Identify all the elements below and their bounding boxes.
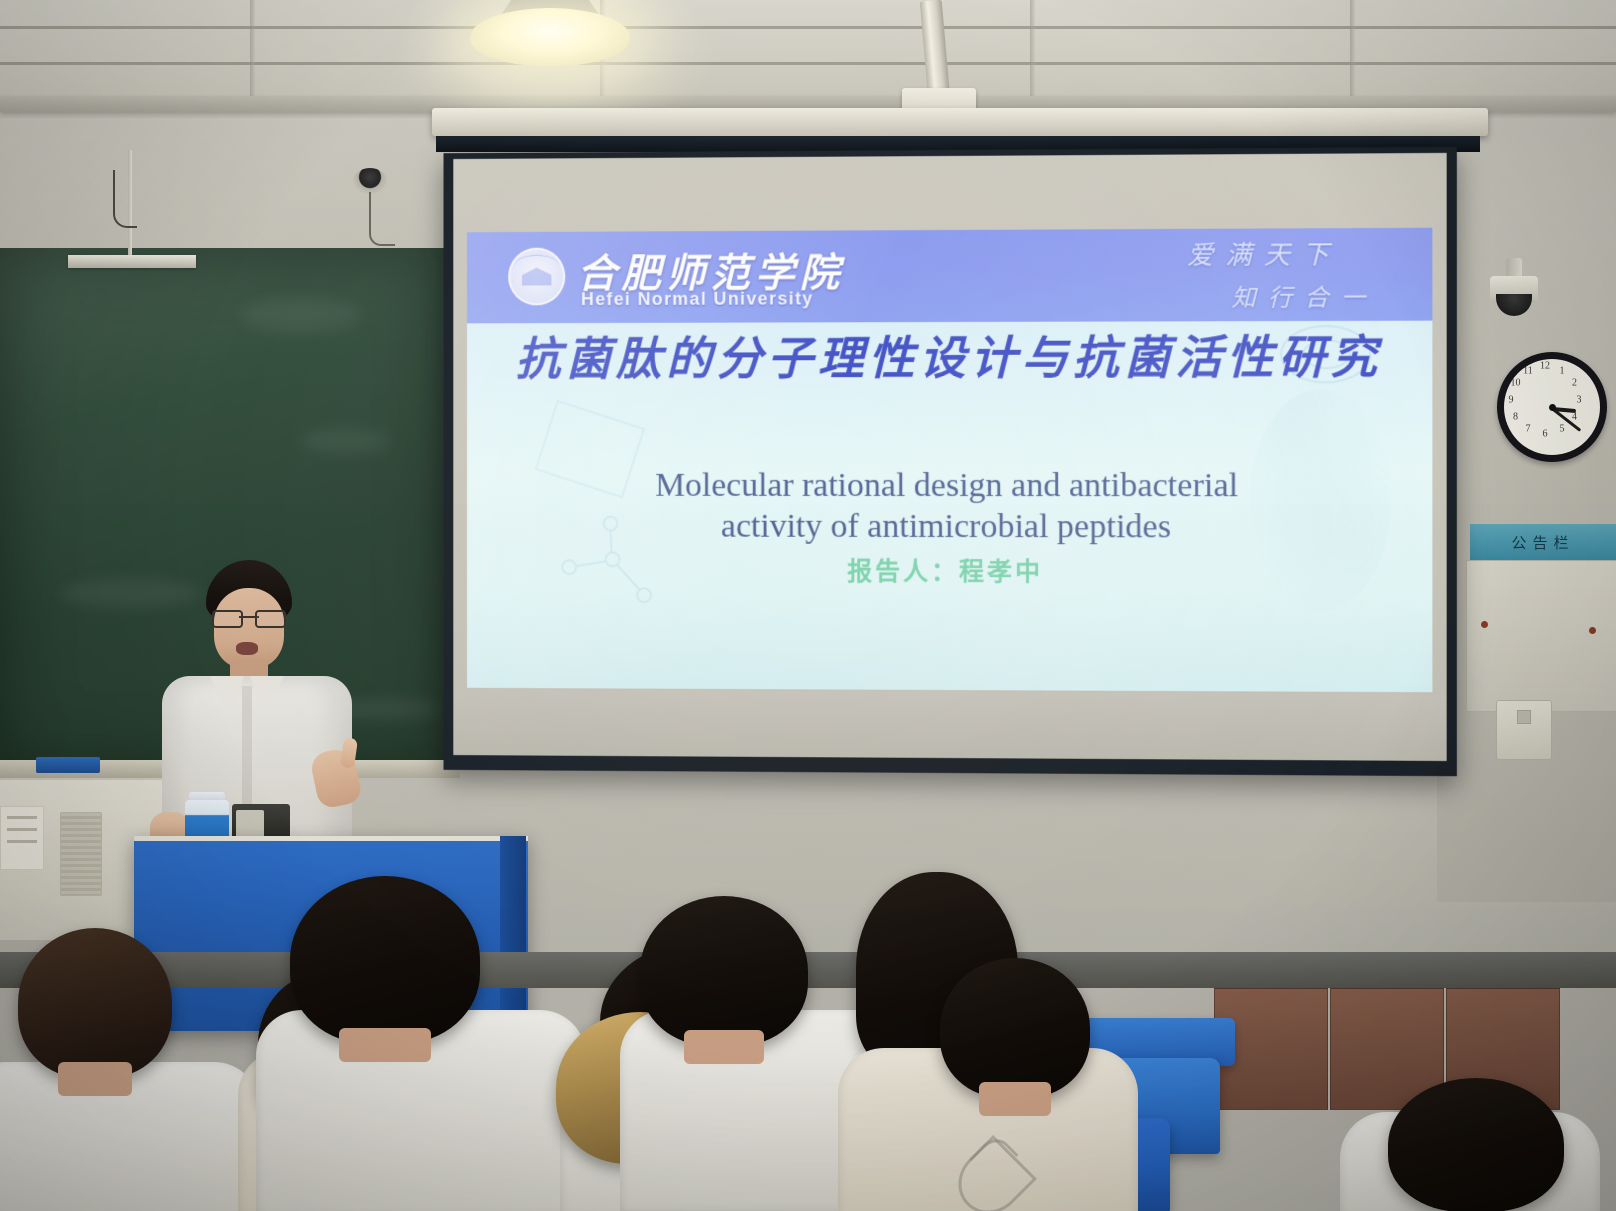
cabinet-vent-icon xyxy=(60,812,102,896)
dome-sensor-icon xyxy=(353,168,387,194)
student-head xyxy=(1388,1078,1564,1211)
motto-line-2: 知行合一 xyxy=(1231,277,1377,313)
student-head xyxy=(290,876,480,1044)
right-wall xyxy=(1437,112,1616,902)
clock-numeral: 8 xyxy=(1513,412,1518,423)
lectern-side-panel xyxy=(500,836,526,1026)
screen-valance xyxy=(432,108,1488,136)
chalk-eraser xyxy=(36,757,100,773)
clock-numeral: 5 xyxy=(1560,424,1565,435)
clock-numeral: 3 xyxy=(1577,395,1582,406)
slide-presenter-line: 报告人：程孝中 xyxy=(467,551,1432,589)
clock-numeral: 6 xyxy=(1543,429,1548,440)
presenter-face xyxy=(214,588,284,668)
posted-note xyxy=(0,806,44,870)
ceiling-dome-light-icon xyxy=(470,0,630,68)
university-name-en: Hefei Normal University xyxy=(581,288,814,310)
university-motto: 爱满天下 知行合一 xyxy=(1187,234,1377,313)
clock-numeral: 1 xyxy=(1560,365,1565,376)
fluorescent-tube-light-icon xyxy=(68,255,196,268)
sensor-wire xyxy=(369,192,395,246)
screen-blank-area xyxy=(453,690,1446,761)
clock-numeral: 9 xyxy=(1509,395,1514,406)
slide-title-cn: 抗菌肽的分子理性设计与抗菌活性研究 xyxy=(467,331,1432,387)
university-seal-icon xyxy=(508,248,565,306)
projected-slide: 合肥师范学院 Hefei Normal University 爱满天下 知行合一 xyxy=(467,228,1432,693)
slide-title-en-line-1: Molecular rational design and antibacter… xyxy=(526,466,1371,507)
student-head xyxy=(640,896,808,1046)
projection-screen: 合肥师范学院 Hefei Normal University 爱满天下 知行合一 xyxy=(444,147,1457,776)
slide-header-band: 合肥师范学院 Hefei Normal University 爱满天下 知行合一 xyxy=(467,228,1432,324)
wall-skirting xyxy=(0,952,1616,988)
slide-title-en-line-2: activity of antimicrobial peptides xyxy=(526,506,1371,548)
slide-title-en: Molecular rational design and antibacter… xyxy=(467,466,1432,548)
lecture-hall-photo: 121234567891011 公告栏 xyxy=(0,0,1616,1211)
student-head xyxy=(18,928,172,1078)
hoodie-heart-print-icon xyxy=(945,1135,1037,1211)
clock-numeral: 12 xyxy=(1540,361,1550,372)
wall-clock: 121234567891011 xyxy=(1497,352,1607,462)
screen-surface: 合肥师范学院 Hefei Normal University 爱满天下 知行合一 xyxy=(453,153,1446,761)
clock-numeral: 10 xyxy=(1511,378,1521,389)
presenter-mouth xyxy=(236,642,258,655)
clock-numeral: 11 xyxy=(1523,365,1533,376)
clock-numeral: 2 xyxy=(1572,378,1577,389)
tube-light-wire xyxy=(113,170,137,228)
clock-numeral: 7 xyxy=(1526,424,1531,435)
notice-sign: 公告栏 xyxy=(1470,524,1616,560)
student-head xyxy=(940,958,1090,1098)
wall-outlet-panel[interactable] xyxy=(1496,700,1552,760)
glasses-icon xyxy=(212,610,286,624)
notice-board xyxy=(1466,560,1616,712)
dome-security-camera-icon xyxy=(1490,258,1538,320)
motto-line-1: 爱满天下 xyxy=(1187,234,1377,272)
clock-numeral: 4 xyxy=(1572,412,1577,423)
